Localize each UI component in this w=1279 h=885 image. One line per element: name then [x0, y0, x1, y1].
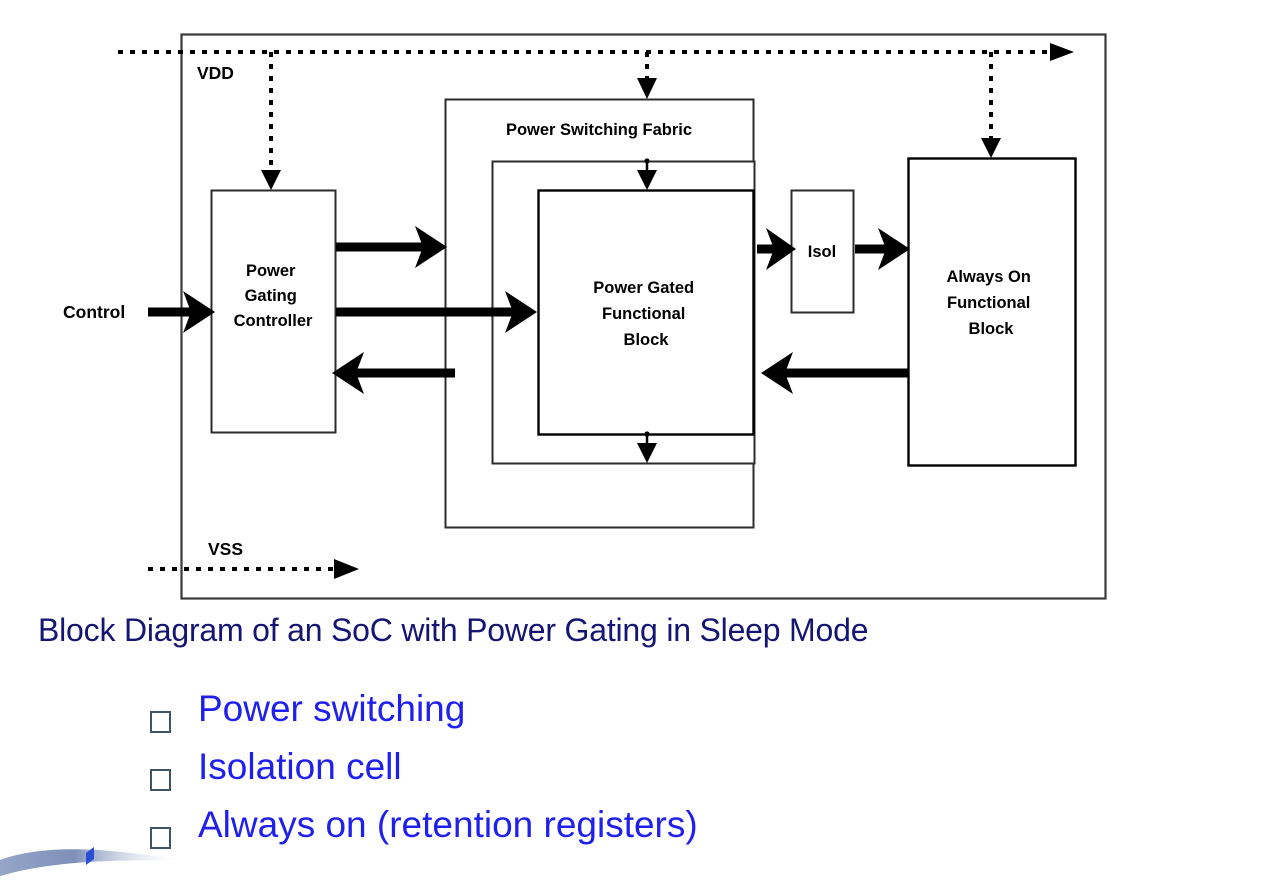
fabric-feed-junction-dot	[644, 158, 649, 163]
isolation-cell-label: Isol	[808, 243, 836, 261]
list-item-label: Always on (retention registers)	[198, 806, 698, 843]
list-item: Power switching	[150, 690, 1200, 748]
list-item-label: Isolation cell	[198, 748, 402, 785]
slide-root: VDD VSS Power Switching Fabric Power Gat…	[0, 0, 1279, 869]
power-switching-fabric-label: Power Switching Fabric	[506, 121, 692, 139]
square-bullet-icon	[150, 711, 170, 731]
vdd-label: VDD	[197, 63, 234, 83]
list-item: Isolation cell	[150, 748, 1200, 806]
square-bullet-icon	[150, 827, 170, 847]
bullet-list: Power switching Isolation cell Always on…	[150, 690, 1200, 864]
control-signal-label: Control	[63, 302, 125, 322]
always-on-functional-block-box	[909, 159, 1076, 466]
square-bullet-icon	[150, 769, 170, 789]
soc-block-diagram: VDD VSS Power Switching Fabric Power Gat…	[0, 0, 1279, 605]
list-item-label: Power switching	[198, 690, 465, 727]
gated-return-junction-dot	[644, 431, 649, 436]
vss-label: VSS	[208, 539, 243, 559]
list-item: Always on (retention registers)	[150, 806, 1200, 864]
page-title: Block Diagram of an SoC with Power Gatin…	[38, 612, 1238, 649]
